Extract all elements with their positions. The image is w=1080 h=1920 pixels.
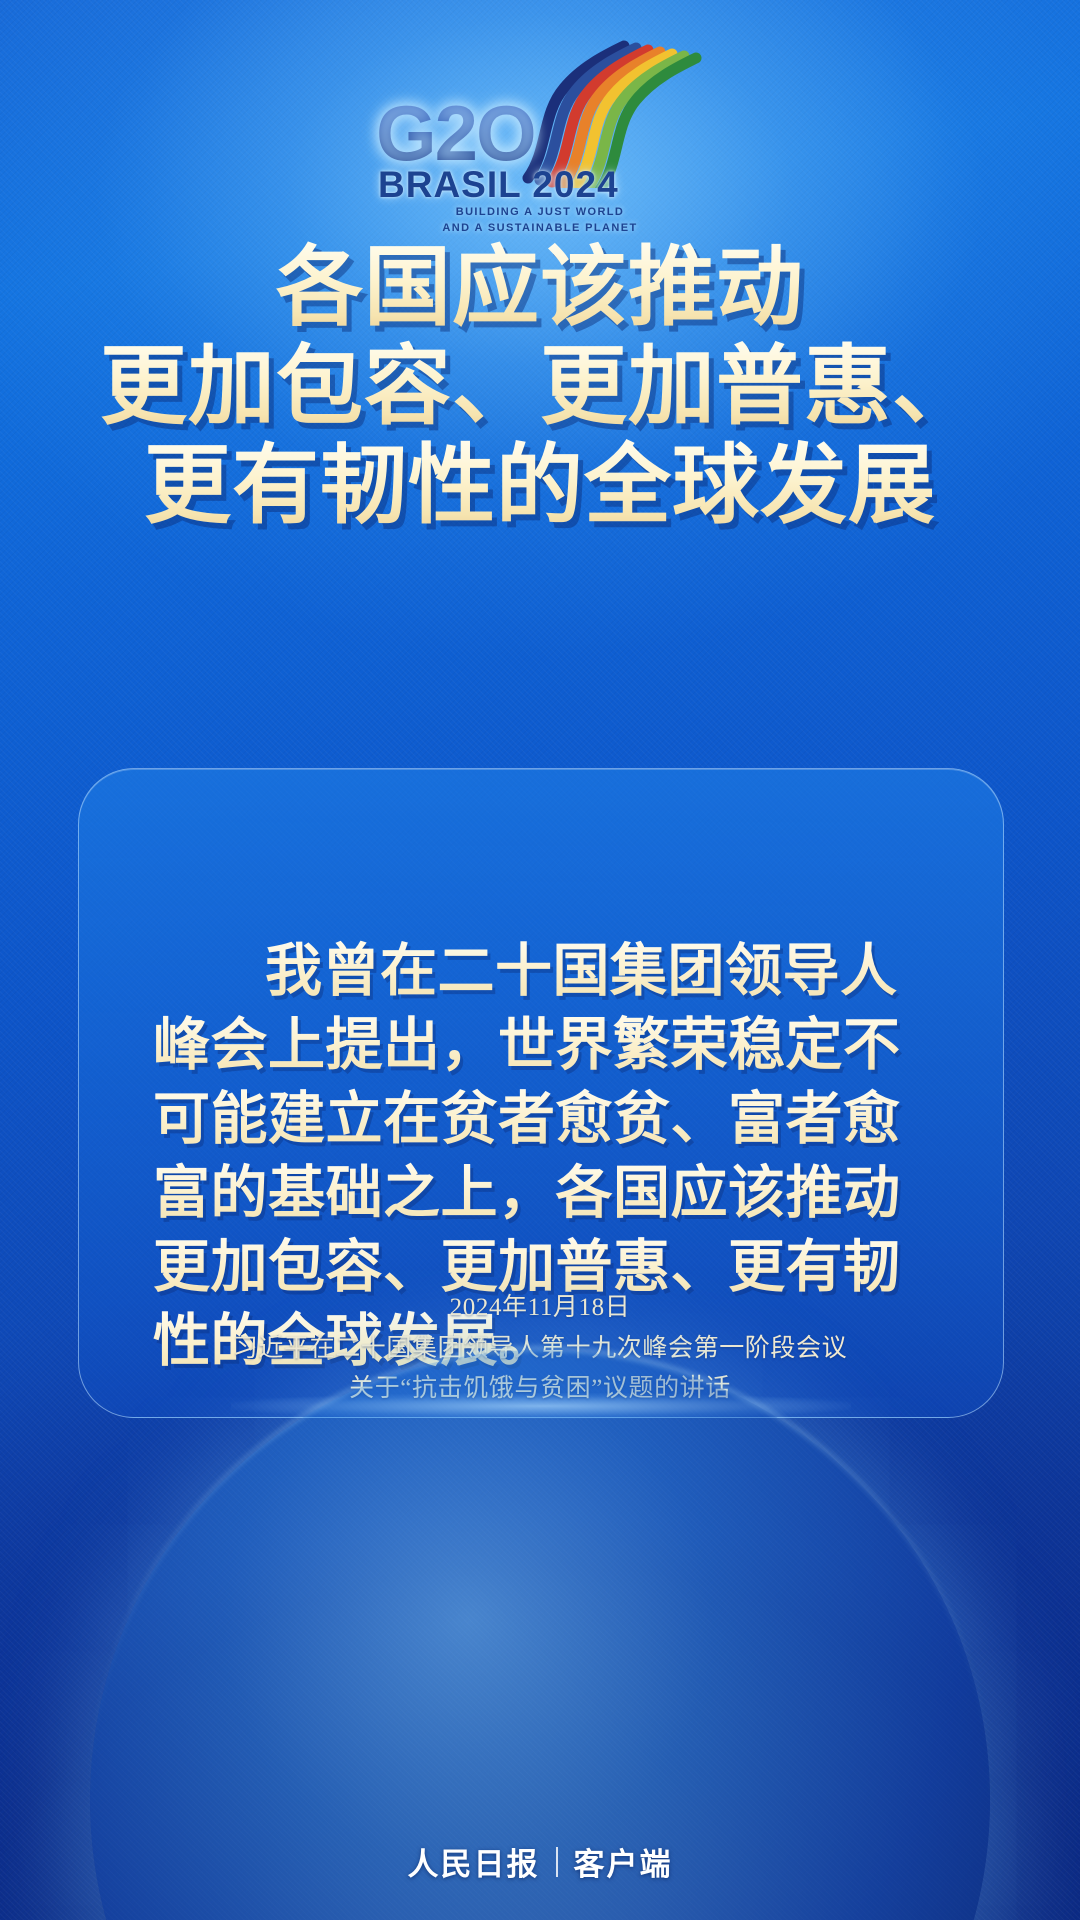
headline-line-2: 更加包容、更加普惠、 xyxy=(0,337,1080,436)
quote-line-3: 可能建立在贫者愈贫、富者愈 xyxy=(153,1083,937,1157)
footer-product: 客户端 xyxy=(574,1839,673,1884)
attribution-line-2: 关于“抗击饥饿与贫困”议题的讲话 xyxy=(0,1369,1080,1410)
logo-tagline-line1: BUILDING A JUST WORLD xyxy=(370,206,710,218)
earth-rim-light xyxy=(90,1347,990,1920)
logo-host-year: BRASIL 2024 xyxy=(378,164,619,206)
quote-line-4: 富的基础之上，各国应该推动 xyxy=(153,1157,937,1231)
quote-line-1: 我曾在二十国集团领导人 xyxy=(153,935,937,1009)
footer-brand: 人民日报 客户端 xyxy=(0,1839,1080,1884)
headline: 各国应该推动 更加包容、更加普惠、 更有韧性的全球发展 xyxy=(0,238,1080,536)
quote-line-2: 峰会上提出，世界繁荣稳定不 xyxy=(153,1009,937,1083)
attribution-line-1: 习近平在二十国集团领导人第十九次峰会第一阶段会议 xyxy=(0,1329,1080,1370)
attribution-date: 2024年11月18日 xyxy=(0,1288,1080,1329)
poster-root: G2O BRASIL 2024 BUILDING A JUST WORLD AN… xyxy=(0,0,1080,1920)
earth-globe xyxy=(90,1350,990,1920)
g20-logo: G2O BRASIL 2024 BUILDING A JUST WORLD AN… xyxy=(0,38,1080,218)
logo-tagline-line2: AND A SUSTAINABLE PLANET xyxy=(370,222,710,234)
footer-publisher: 人民日报 xyxy=(408,1839,540,1884)
attribution: 2024年11月18日 习近平在二十国集团领导人第十九次峰会第一阶段会议 关于“… xyxy=(0,1288,1080,1410)
headline-line-1: 各国应该推动 xyxy=(0,238,1080,337)
headline-line-3: 更有韧性的全球发展 xyxy=(0,436,1080,535)
footer-divider xyxy=(556,1847,558,1877)
